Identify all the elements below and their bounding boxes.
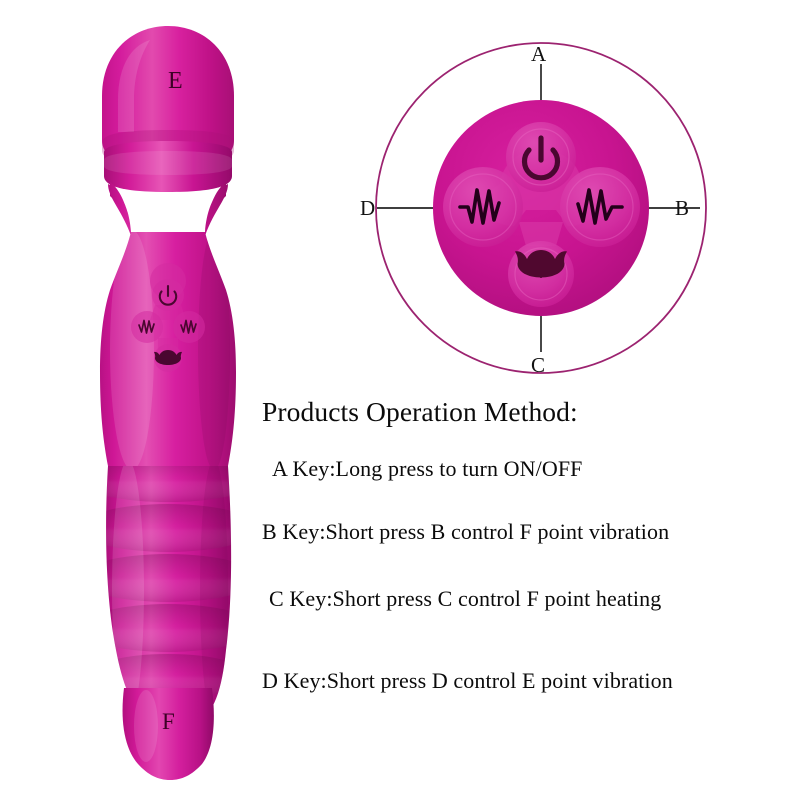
- instruction-line-b: B Key:Short press B control F point vibr…: [262, 519, 669, 545]
- product-label-f: F: [162, 710, 175, 733]
- instructions-block: Products Operation Method: A Key:Long pr…: [262, 396, 792, 726]
- callout-label-a: A: [531, 44, 546, 65]
- pad-right: [560, 167, 640, 247]
- instruction-line-d: D Key:Short press D control E point vibr…: [262, 668, 673, 694]
- callout-label-d: D: [360, 198, 375, 219]
- instruction-line-a: A Key:Long press to turn ON/OFF: [272, 456, 583, 482]
- instructions-title: Products Operation Method:: [262, 396, 578, 428]
- product-label-e: E: [168, 69, 183, 93]
- pad-left: [443, 167, 523, 247]
- callout-label-b: B: [675, 198, 689, 219]
- callout-label-c: C: [531, 355, 545, 376]
- instruction-line-c: C Key:Short press C control F point heat…: [269, 586, 661, 612]
- infographic-canvas: A B C D E F Products Operation Method: A…: [0, 0, 800, 800]
